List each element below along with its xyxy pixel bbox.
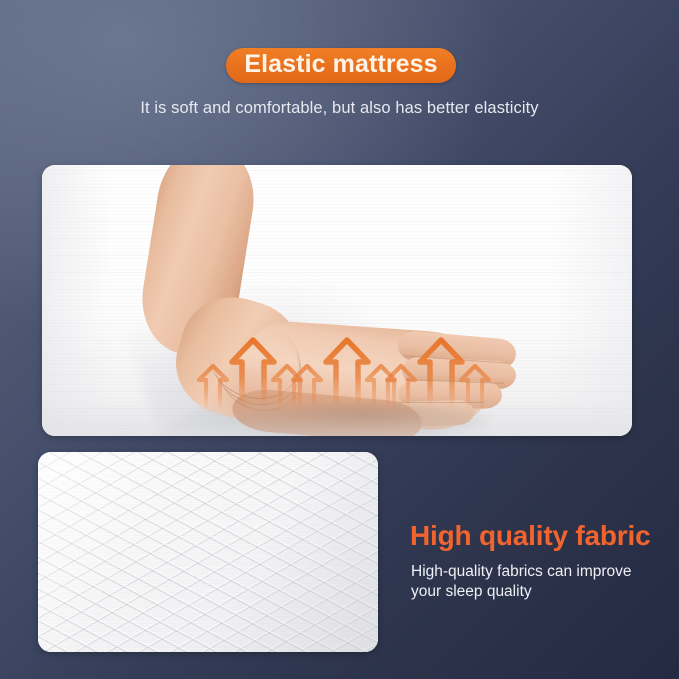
product-feature-image: Elastic mattress It is soft and comforta…	[0, 0, 679, 679]
title-badge: Elastic mattress	[226, 48, 456, 83]
fabric-description-line-1: High-quality fabrics can improve	[411, 562, 669, 582]
fabric-description-line-2: your sleep quality	[411, 582, 669, 602]
fabric-description: High-quality fabrics can improve your sl…	[411, 562, 669, 602]
title-badge-label: Elastic mattress	[244, 52, 437, 79]
panel-edge-shading	[42, 165, 632, 436]
fabric-shading	[38, 452, 378, 652]
subtitle-text: It is soft and comfortable, but also has…	[0, 99, 679, 118]
fabric-heading: High quality fabric	[410, 520, 650, 552]
elasticity-photo-panel	[42, 165, 632, 436]
fabric-swatch-photo	[38, 452, 378, 652]
